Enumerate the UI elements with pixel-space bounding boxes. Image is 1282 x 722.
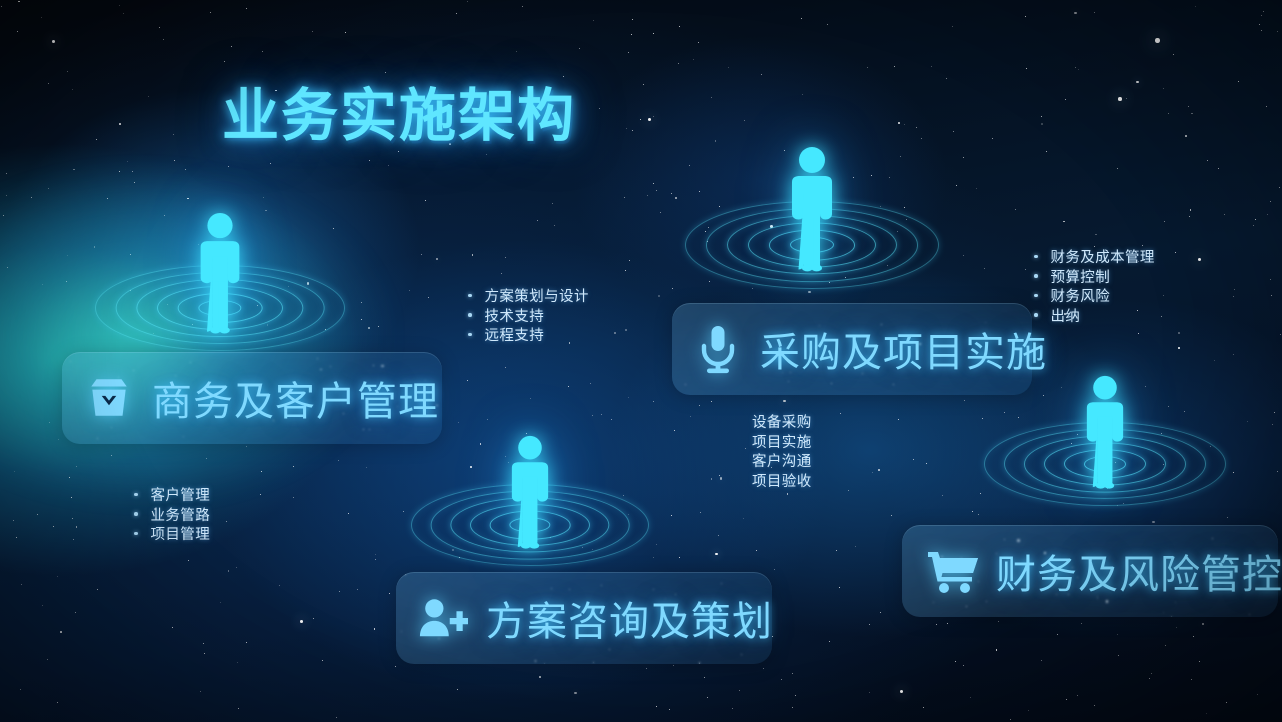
bullets-finance-items: 财务及成本管理 预算控制 财务风险 出纳 bbox=[1034, 249, 1155, 327]
list-item: 客户沟通 bbox=[752, 453, 812, 473]
list-item: 预算控制 bbox=[1034, 269, 1155, 289]
person-icon bbox=[501, 435, 559, 551]
card-label: 采购及项目实施 bbox=[760, 320, 1047, 378]
list-item: 出纳 bbox=[1034, 308, 1155, 328]
card-procurement-project-implementation[interactable]: 采购及项目实施 bbox=[672, 303, 1032, 395]
bullet-dot bbox=[134, 493, 138, 497]
list-item-label: 远程支持 bbox=[485, 327, 545, 347]
list-item: 财务及成本管理 bbox=[1034, 249, 1155, 269]
list-item: 设备采购 bbox=[752, 414, 812, 434]
bullets-solution-consulting-items: 方案策划与设计 技术支持 远程支持 bbox=[468, 288, 589, 347]
list-item-label: 客户管理 bbox=[151, 487, 211, 507]
figure-procurement bbox=[692, 128, 932, 288]
list-item-label: 业务管路 bbox=[151, 507, 211, 527]
user-plus-icon bbox=[418, 595, 468, 641]
card-finance-risk-control[interactable]: 财务及风险管控 bbox=[902, 525, 1278, 617]
bullets-business-customer-items: 客户管理 业务管路 项目管理 bbox=[134, 487, 210, 546]
person-icon bbox=[1076, 375, 1134, 491]
figure-consulting bbox=[415, 410, 645, 565]
bullet-dot bbox=[134, 532, 138, 536]
list-item: 客户管理 bbox=[134, 487, 210, 507]
microphone-icon bbox=[696, 323, 740, 375]
list-item-label: 客户沟通 bbox=[752, 453, 812, 473]
basket-icon bbox=[84, 373, 134, 423]
shopping-cart-icon bbox=[926, 548, 980, 594]
list-item: 远程支持 bbox=[468, 327, 589, 347]
list-item-label: 技术支持 bbox=[485, 308, 545, 328]
list-item: 项目实施 bbox=[752, 434, 812, 454]
person-icon bbox=[780, 146, 844, 274]
list-item-label: 预算控制 bbox=[1051, 269, 1111, 289]
person-icon bbox=[189, 212, 251, 336]
bullet-dot bbox=[1034, 255, 1038, 259]
slide-canvas: 业务实施架构 商务及客户管理 方案咨询及策划 bbox=[0, 0, 1282, 722]
list-item-label: 财务风险 bbox=[1051, 288, 1111, 308]
bullet-dot bbox=[1034, 313, 1038, 317]
figure-business bbox=[100, 190, 340, 350]
bullet-dot bbox=[134, 512, 138, 516]
list-item: 财务风险 bbox=[1034, 288, 1155, 308]
bullet-dot bbox=[468, 294, 472, 298]
bullets-procurement-items: 设备采购 项目实施 客户沟通 项目验收 bbox=[752, 414, 812, 492]
list-item-label: 项目验收 bbox=[752, 473, 812, 493]
list-item-label: 项目管理 bbox=[151, 526, 211, 546]
card-label: 商务及客户管理 bbox=[152, 369, 439, 427]
list-item: 方案策划与设计 bbox=[468, 288, 589, 308]
list-item: 项目管理 bbox=[134, 526, 210, 546]
card-label: 财务及风险管控 bbox=[996, 542, 1282, 600]
list-item-label: 出纳 bbox=[1051, 308, 1081, 328]
page-title: 业务实施架构 bbox=[222, 70, 576, 152]
card-solution-consulting-planning[interactable]: 方案咨询及策划 bbox=[396, 572, 772, 664]
card-business-customer-management[interactable]: 商务及客户管理 bbox=[62, 352, 442, 444]
bullet-dot bbox=[1034, 274, 1038, 278]
bullet-dot bbox=[1034, 294, 1038, 298]
list-item-label: 方案策划与设计 bbox=[485, 288, 589, 308]
bullet-dot bbox=[468, 313, 472, 317]
list-item-label: 设备采购 bbox=[752, 414, 812, 434]
list-item: 项目验收 bbox=[752, 473, 812, 493]
list-item: 业务管路 bbox=[134, 507, 210, 527]
list-item: 技术支持 bbox=[468, 308, 589, 328]
bullet-dot bbox=[468, 333, 472, 337]
list-item-label: 财务及成本管理 bbox=[1051, 249, 1155, 269]
list-item-label: 项目实施 bbox=[752, 434, 812, 454]
card-label: 方案咨询及策划 bbox=[486, 589, 773, 647]
